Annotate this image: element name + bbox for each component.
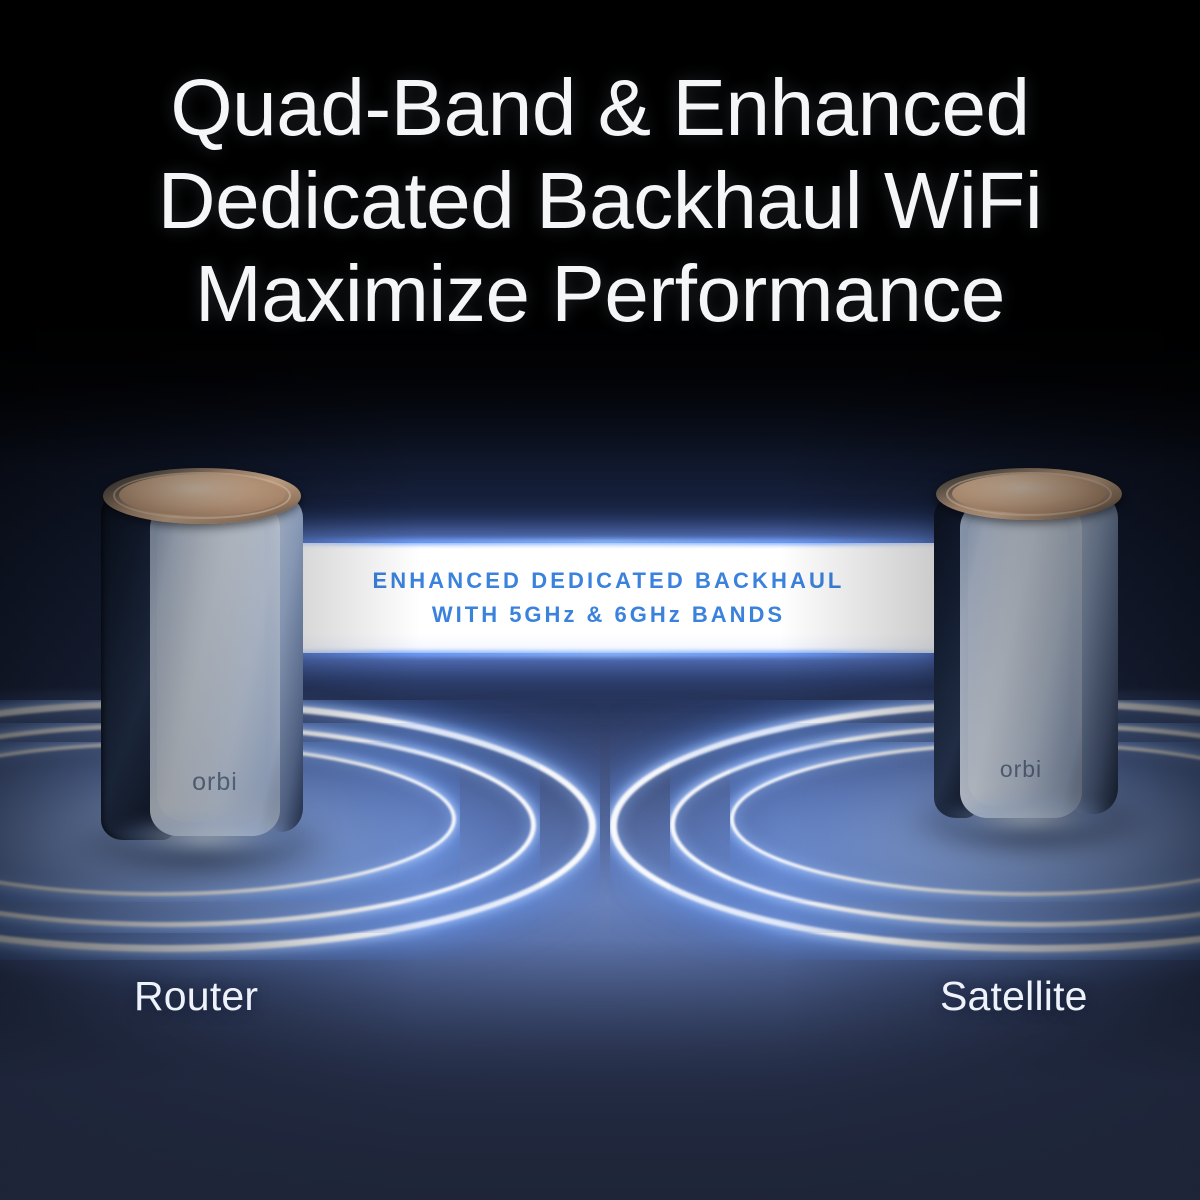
banner-line-2: WITH 5GHz & 6GHz BANDS — [432, 598, 785, 632]
banner-line-1: ENHANCED DEDICATED BACKHAUL — [373, 564, 845, 598]
headline-line-1: Quad-Band & Enhanced — [0, 62, 1200, 155]
headline: Quad-Band & Enhanced Dedicated Backhaul … — [0, 62, 1200, 340]
headline-line-2: Dedicated Backhaul WiFi — [0, 155, 1200, 248]
router-label: Router — [134, 973, 258, 1020]
promo-graphic: ENHANCED DEDICATED BACKHAUL WITH 5GHz & … — [0, 0, 1200, 1200]
headline-line-3: Maximize Performance — [0, 248, 1200, 341]
satellite-label: Satellite — [940, 973, 1088, 1020]
